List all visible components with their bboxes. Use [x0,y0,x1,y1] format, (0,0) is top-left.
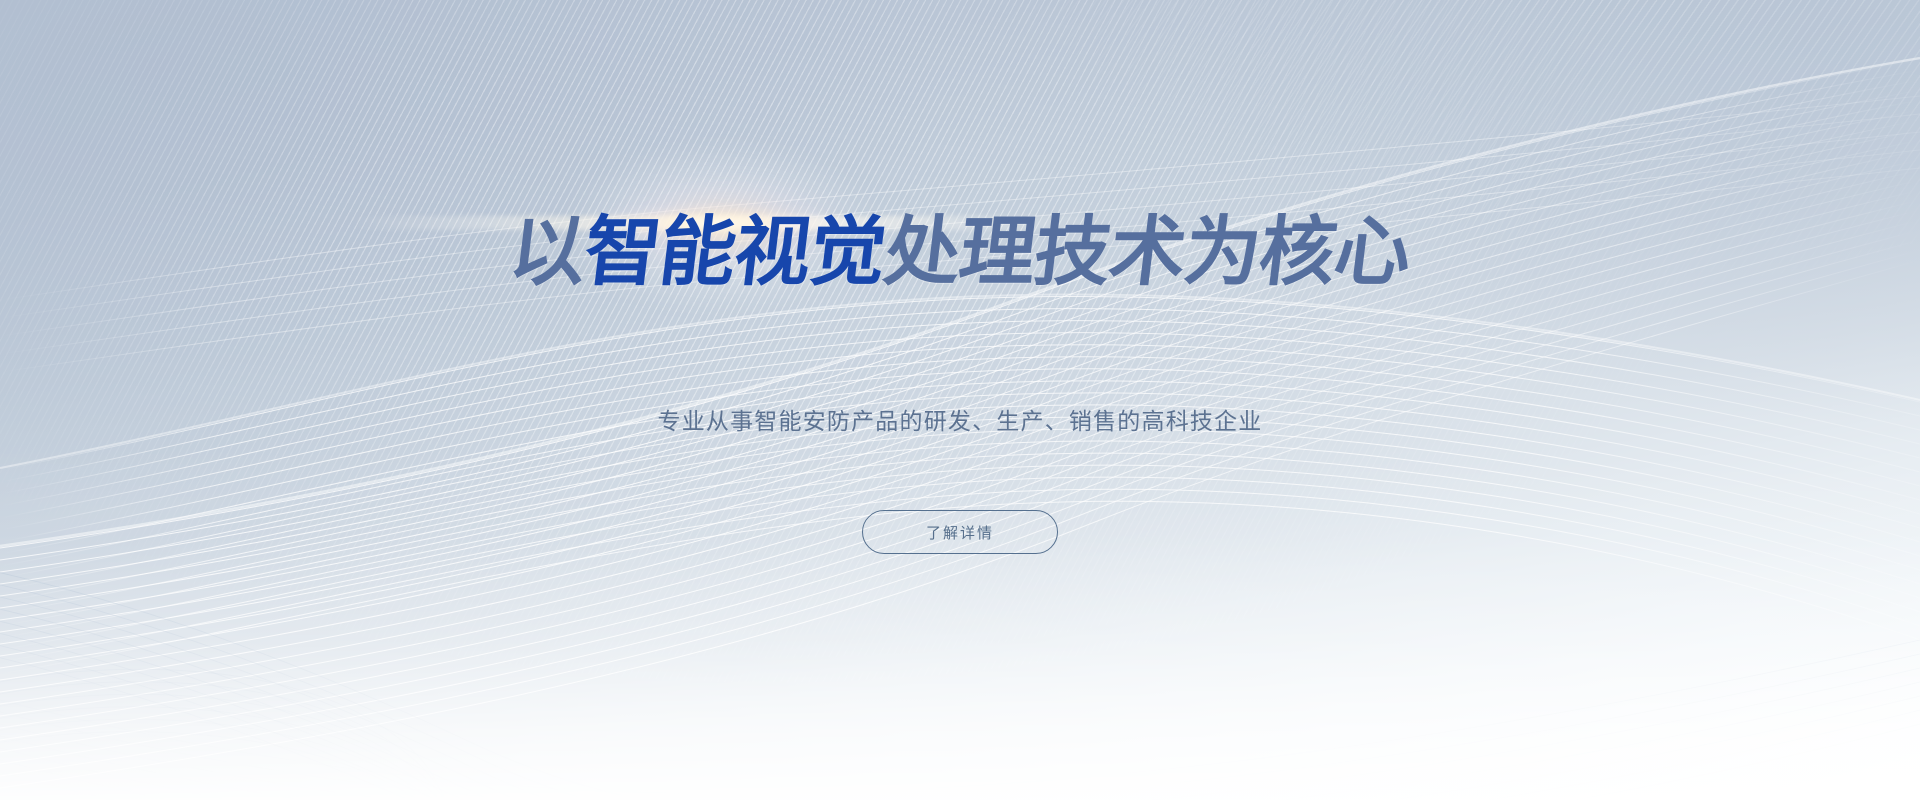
hero-subtitle: 专业从事智能安防产品的研发、生产、销售的高科技企业 [0,402,1920,436]
cta-container: 了解详情 [0,510,1920,554]
page-title: 以智能视觉处理技术为核心 [0,214,1920,290]
hero-banner: 以智能视觉处理技术为核心 专业从事智能安防产品的研发、生产、销售的高科技企业 了… [0,0,1920,800]
headline-segment-suffix: 处理技术为核心 [880,207,1416,296]
learn-more-button[interactable]: 了解详情 [862,510,1058,554]
headline-segment-accent: 智能视觉 [580,207,891,296]
background-bottom-fade [0,0,1920,800]
headline-segment-prefix: 以 [505,207,591,296]
